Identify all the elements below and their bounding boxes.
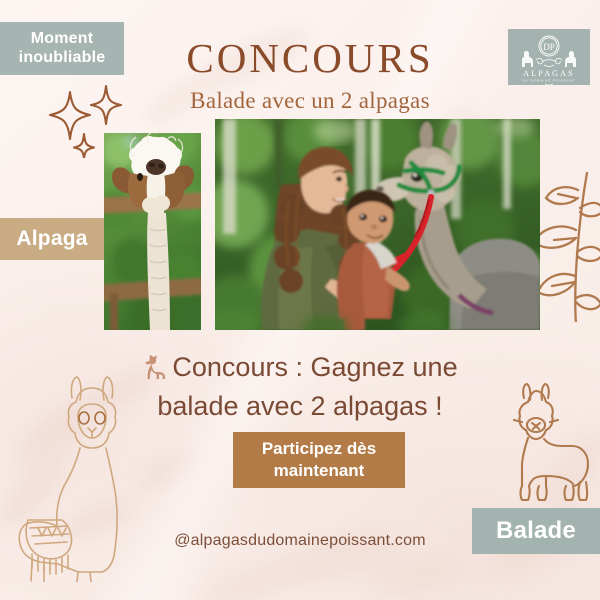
alpaca-portrait-photo <box>104 133 201 330</box>
badge-moment-inoubliable: Moment inoubliable <box>0 22 124 75</box>
promo-message-line2: balade avec 2 alpagas ! <box>157 391 442 421</box>
promo-poster: Moment inoubliable Alpaga Balade DP ALPA… <box>0 0 600 600</box>
promo-message-line1: Concours : Gagnez une <box>172 352 457 382</box>
llama-icon <box>142 354 168 389</box>
participate-button[interactable]: Participez dès maintenant <box>233 432 405 488</box>
promo-message: Concours : Gagnez une balade avec 2 alpa… <box>90 350 510 423</box>
logo-tagline: DU DOMAINE POISSANT <box>522 79 575 83</box>
logo-brand-name: ALPAGAS <box>523 69 575 78</box>
headline-block: CONCOURS Balade avec un 2 alpagas <box>130 38 490 114</box>
brand-logo: DP ALPAGAS DU DOMAINE POISSANT <box>508 29 590 85</box>
logo-monogram: DP <box>543 42 555 52</box>
website-handle[interactable]: @alpagasdudomainepoissant.com <box>0 532 600 550</box>
page-title: CONCOURS <box>130 38 490 80</box>
alpaca-crest-logo-icon: DP ALPAGAS DU DOMAINE POISSANT <box>508 29 590 85</box>
page-subtitle: Balade avec un 2 alpagas <box>130 88 490 114</box>
badge-alpaga: Alpaga <box>0 218 104 260</box>
family-with-alpaca-photo <box>215 119 540 330</box>
